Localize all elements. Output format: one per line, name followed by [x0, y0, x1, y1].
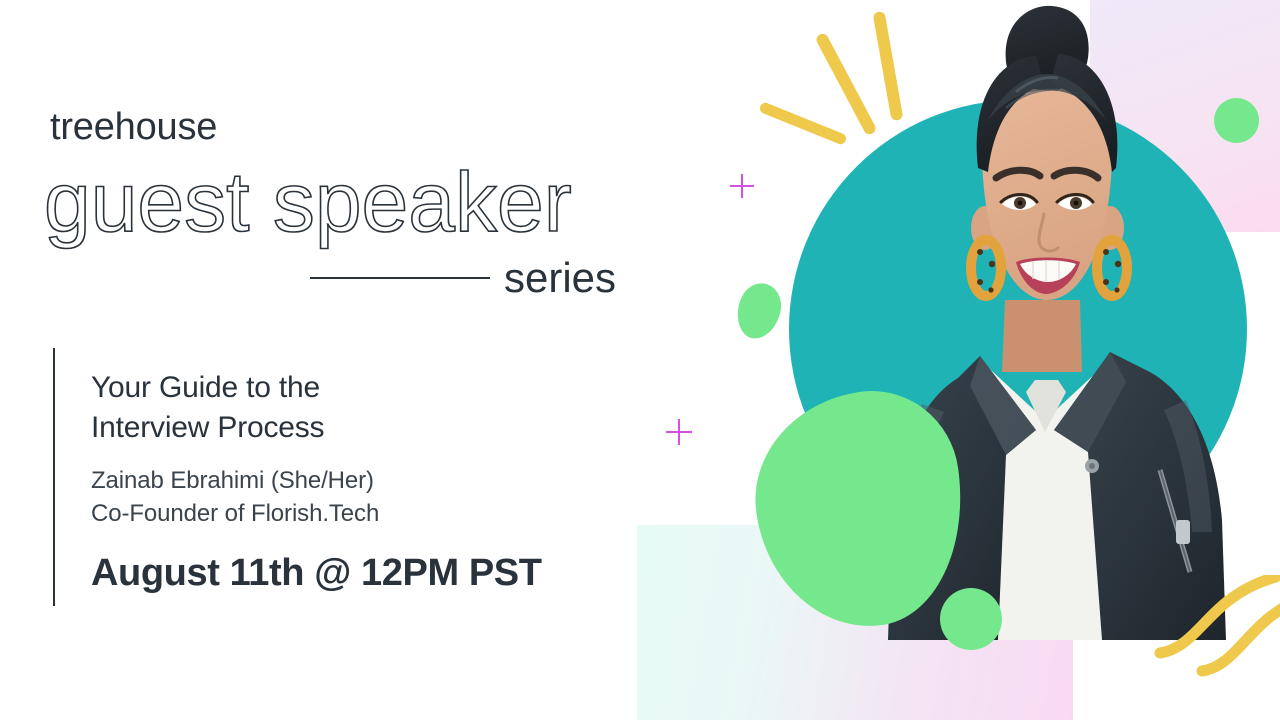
magenta-plus-top-icon	[730, 174, 754, 198]
series-row: series	[310, 255, 625, 301]
speaker-photo	[830, 0, 1230, 720]
headline-outline-text: guest speaker	[44, 160, 572, 244]
speaker-name: Zainab Ebrahimi (She/Her)	[91, 465, 631, 498]
event-details: Your Guide to the Interview Process Zain…	[91, 368, 631, 592]
event-datetime: August 11th @ 12PM PST	[91, 554, 631, 592]
series-divider-rule	[310, 277, 490, 279]
series-label: series	[504, 257, 616, 299]
green-blob-small-shape	[732, 279, 786, 343]
speaker-portrait-illustration	[830, 0, 1230, 720]
talk-title-line-1: Your Guide to the	[91, 368, 631, 408]
promo-slide: treehouse guest speaker series Your Guid…	[0, 0, 1280, 720]
text-column: treehouse guest speaker series Your Guid…	[0, 0, 680, 720]
vertical-divider-rule	[53, 348, 55, 606]
speaker-role: Co-Founder of Florish.Tech	[91, 498, 631, 531]
talk-title-line-2: Interview Process	[91, 408, 631, 448]
brand-wordmark: treehouse	[50, 108, 217, 146]
